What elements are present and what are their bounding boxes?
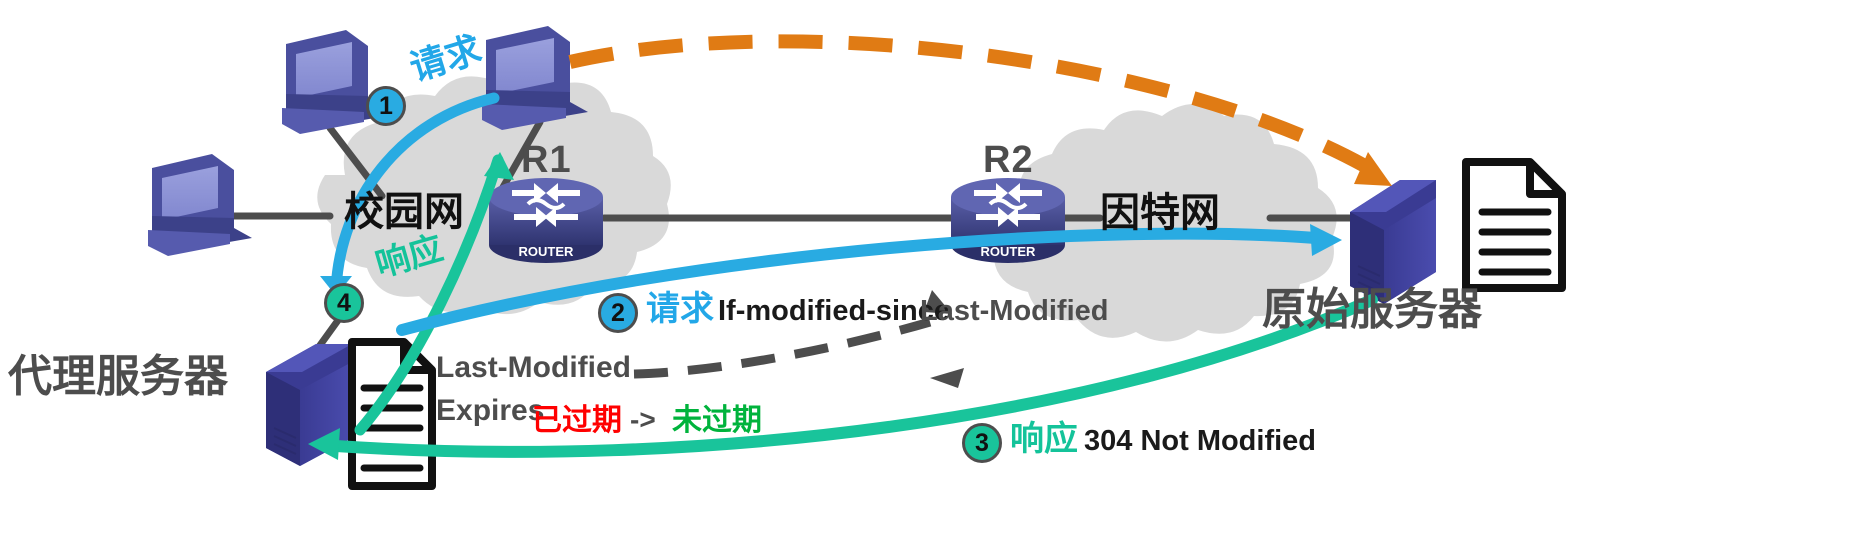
- step-3-status-label: 304 Not Modified: [1084, 427, 1316, 456]
- step-2-action-label: 请求: [646, 292, 714, 326]
- step-2-header-last-modified: Last-Modified: [920, 297, 1109, 326]
- origin-document-icon: [1466, 162, 1562, 288]
- proxy-server-label: 代理服务器: [8, 355, 228, 399]
- svg-text:ROUTER: ROUTER: [519, 244, 575, 259]
- step-2-badge: 2: [598, 293, 638, 333]
- cached-doc-field-last-modified: Last-Modified: [436, 353, 631, 383]
- router-label-r1: R1: [521, 139, 572, 182]
- computer-left: [148, 154, 252, 256]
- computer-top-right: [482, 26, 588, 130]
- step-3-badge: 3: [962, 423, 1002, 463]
- diagram-graphics: ROUTER ROUTER: [0, 0, 1868, 551]
- cached-doc-state-before: 已过期: [532, 406, 622, 436]
- cloud-label-campus: 校园网: [344, 192, 464, 232]
- cloud-label-internet: 因特网: [1100, 193, 1220, 233]
- cached-doc-field-expires: Expires: [436, 396, 544, 426]
- diagram-canvas: ROUTER ROUTER: [0, 0, 1868, 551]
- arrow-gray-dashed-relation: [634, 322, 930, 374]
- cached-doc-state-after: 未过期: [672, 406, 762, 436]
- origin-server-label: 原始服务器: [1262, 288, 1482, 332]
- router-label-r2: R2: [983, 139, 1034, 182]
- step-4-badge: 4: [324, 283, 364, 323]
- step-3-action-label: 响应: [1010, 422, 1078, 456]
- router-r1: ROUTER: [489, 178, 603, 263]
- cached-doc-state-arrow: ->: [630, 406, 656, 434]
- router-r2: ROUTER: [951, 178, 1065, 263]
- arrow-step2-small-gray: [930, 368, 964, 388]
- step-2-header-if-modified-since: If-modified-since: [718, 297, 950, 326]
- step-1-badge: 1: [366, 86, 406, 126]
- cached-document-icon: [352, 342, 432, 486]
